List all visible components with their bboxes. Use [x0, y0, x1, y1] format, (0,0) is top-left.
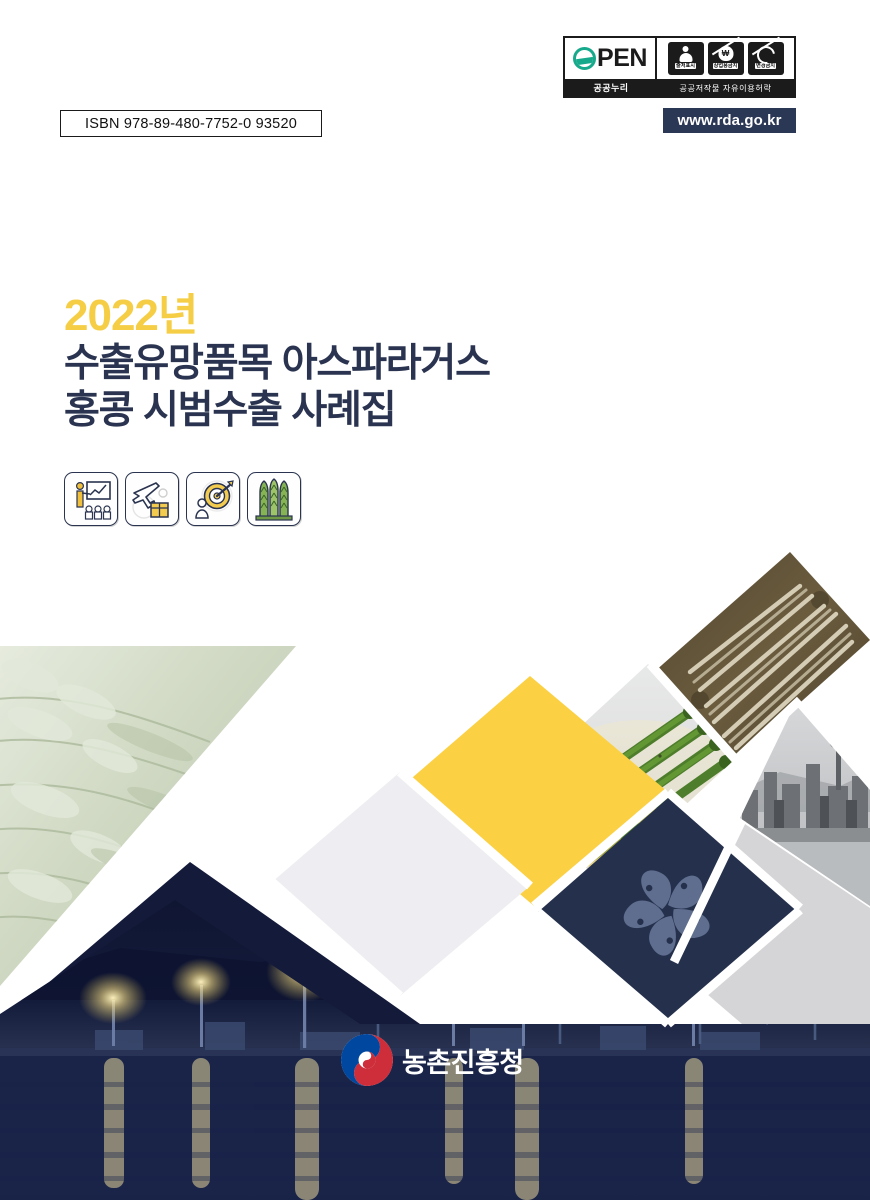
- organization-logo: 농촌진흥청: [341, 1034, 524, 1086]
- topic-icon-row: [64, 472, 301, 526]
- kogl-usage-label: 공공저작물 자유이용허락: [657, 82, 794, 94]
- page-title: 2022년 수출유망품목 아스파라거스 홍콩 시범수출 사례집: [64, 292, 490, 435]
- modify-crossed-icon: [748, 44, 784, 62]
- taegeuk-icon: [341, 1034, 393, 1086]
- kogl-brand-label: 공공누리: [565, 81, 657, 94]
- title-year: 2022년: [64, 292, 490, 340]
- person-icon: [668, 44, 704, 62]
- open-pen-text: PEN: [597, 46, 647, 71]
- asparagus-plants-icon: [247, 472, 301, 526]
- kogl-mark-noncommercial: ₩ 상업용금지: [708, 42, 744, 75]
- cover-page: ISBN 978-89-480-7752-0 93520 PEN 출처표시 ₩: [0, 0, 870, 1200]
- open-o-icon: [573, 47, 596, 70]
- presentation-chart-icon: [64, 472, 118, 526]
- cover-artwork: [0, 0, 870, 1200]
- title-line-1: 수출유망품목 아스파라거스: [64, 340, 490, 388]
- target-dart-icon: [186, 472, 240, 526]
- website-url[interactable]: www.rda.go.kr: [663, 108, 796, 133]
- organization-name: 농촌진흥청: [402, 1041, 524, 1080]
- money-bag-crossed-icon: ₩: [708, 44, 744, 62]
- kogl-mark-noderivatives: 변경금지: [748, 42, 784, 75]
- kogl-open-license-badge: PEN 출처표시 ₩ 상업용금지: [563, 36, 796, 98]
- kogl-mark-attribution: 출처표시: [668, 42, 704, 75]
- open-logo: PEN: [565, 38, 657, 79]
- airplane-package-icon: [125, 472, 179, 526]
- title-line-2: 홍콩 시범수출 사례집: [64, 387, 490, 435]
- isbn-box: ISBN 978-89-480-7752-0 93520: [60, 110, 322, 137]
